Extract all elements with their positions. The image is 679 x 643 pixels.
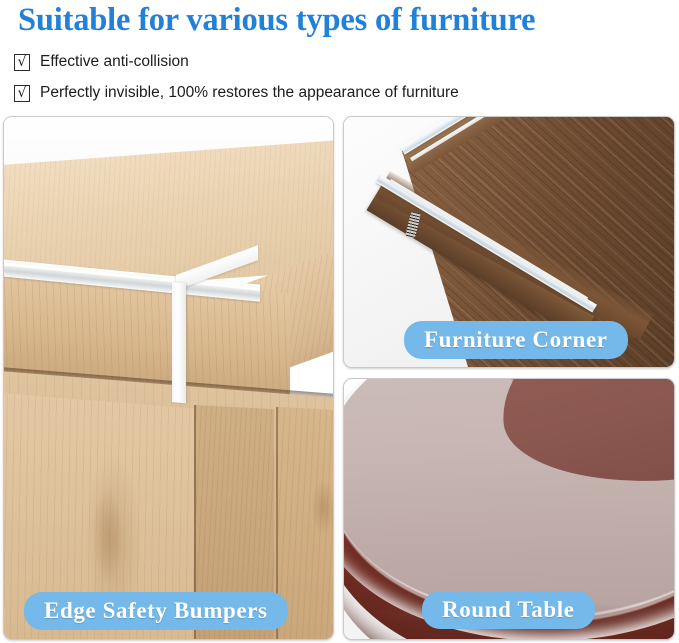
badge-furniture-corner: Furniture Corner [404, 321, 628, 359]
feature-bullet-1: √ Perfectly invisible, 100% restores the… [14, 82, 459, 104]
panel-round-table: Round Table [343, 378, 675, 640]
header: Suitable for various types of furniture … [0, 0, 679, 116]
badge-round-table: Round Table [422, 591, 595, 629]
page-title: Suitable for various types of furniture [18, 0, 668, 40]
panel-furniture-corner: Furniture Corner [343, 116, 675, 368]
product-photo-edge-bumpers [4, 117, 333, 639]
panel-edge-safety-bumpers: Edge Safety Bumpers [3, 116, 334, 640]
feature-bullet-label: Perfectly invisible, 100% restores the a… [40, 82, 459, 104]
check-square-icon: √ [14, 54, 30, 71]
badge-edge-safety-bumpers: Edge Safety Bumpers [24, 592, 288, 630]
check-square-icon: √ [14, 85, 30, 102]
feature-bullet-label: Effective anti-collision [40, 51, 189, 73]
feature-bullet-0: √ Effective anti-collision [14, 51, 189, 73]
